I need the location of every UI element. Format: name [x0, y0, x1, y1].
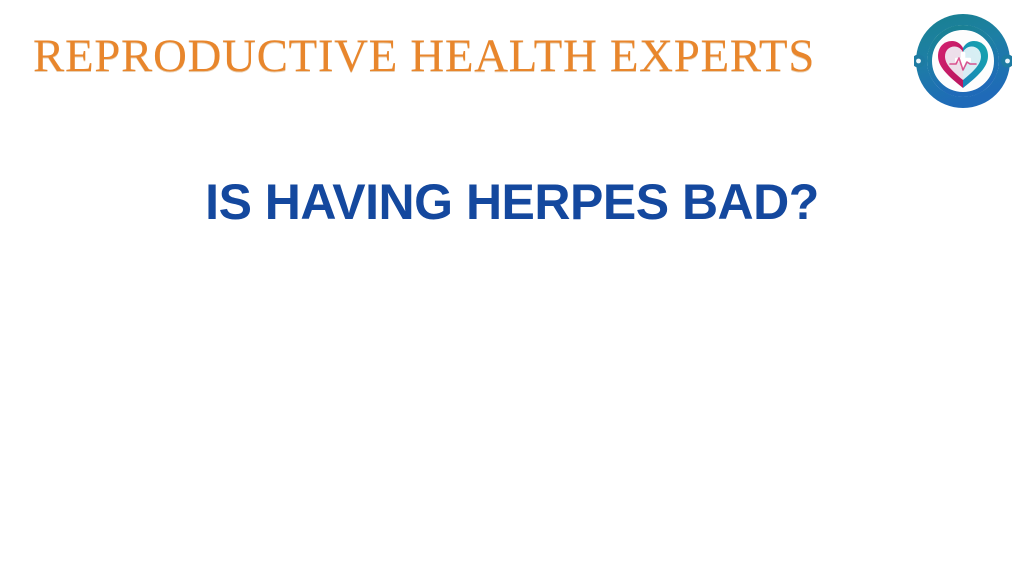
site-logo[interactable] [914, 12, 1012, 110]
brand-header: REPRODUCTIVE HEALTH EXPERTS [0, 0, 1024, 120]
content-area [0, 250, 1024, 576]
article-heading: IS HAVING HERPES BAD? [0, 172, 1024, 232]
page-root: REPRODUCTIVE HEALTH EXPERTS [0, 0, 1024, 576]
heart-medical-badge-icon [914, 12, 1012, 110]
page-title: REPRODUCTIVE HEALTH EXPERTS [33, 30, 815, 82]
